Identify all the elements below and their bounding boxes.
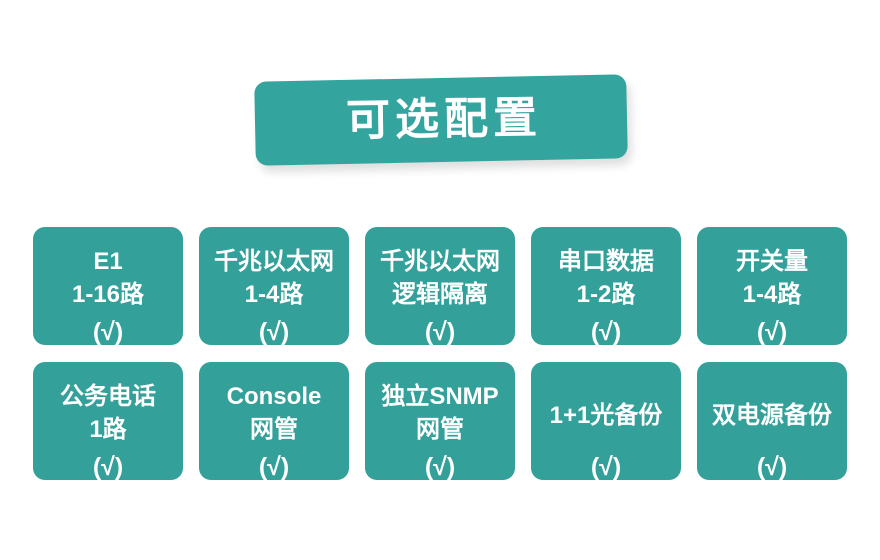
banner-title: 可选配置	[340, 97, 542, 144]
option-tile-label-group: 千兆以太网1-4路	[186, 245, 362, 311]
option-tile-grid: E11-16路(√)千兆以太网1-4路(√)千兆以太网逻辑隔离(√)串口数据1-…	[33, 227, 847, 480]
option-tile[interactable]: 千兆以太网逻辑隔离(√)	[365, 227, 515, 345]
option-tile-label: 1-4路	[684, 278, 860, 311]
option-tile-label: E1	[20, 245, 196, 278]
option-tile[interactable]: 公务电话1路(√)	[33, 362, 183, 480]
option-tile[interactable]: E11-16路(√)	[33, 227, 183, 345]
option-tile-label: 逻辑隔离	[352, 278, 528, 311]
option-tile-label: 双电源备份	[684, 399, 860, 432]
option-tile-label-group: 串口数据1-2路	[518, 245, 694, 311]
option-tile-check-mark: (√)	[697, 452, 847, 482]
option-tile[interactable]: 独立SNMP网管(√)	[365, 362, 515, 480]
option-tile-label-group: 1+1光备份	[518, 399, 694, 432]
option-tile-check-mark: (√)	[531, 317, 681, 347]
option-tile-check-mark: (√)	[697, 317, 847, 347]
option-tile-check-mark: (√)	[531, 452, 681, 482]
option-tile-label-group: 开关量1-4路	[684, 245, 860, 311]
option-tile-check-mark: (√)	[199, 317, 349, 347]
option-tile-label: 网管	[352, 413, 528, 446]
option-tile-label: Console	[186, 380, 362, 413]
option-tile-check-mark: (√)	[365, 452, 515, 482]
option-tile[interactable]: 串口数据1-2路(√)	[531, 227, 681, 345]
option-tile[interactable]: 千兆以太网1-4路(√)	[199, 227, 349, 345]
option-tile-label: 1-2路	[518, 278, 694, 311]
option-tile-label-group: 双电源备份	[684, 399, 860, 432]
banner-shape: 可选配置	[254, 74, 628, 165]
option-tile[interactable]: 1+1光备份(√)	[531, 362, 681, 480]
option-tile-label: 1-4路	[186, 278, 362, 311]
option-tile-label-group: Console网管	[186, 380, 362, 446]
option-tile-label: 1+1光备份	[518, 399, 694, 432]
option-tile-label: 1-16路	[20, 278, 196, 311]
option-tile[interactable]: 开关量1-4路(√)	[697, 227, 847, 345]
option-tile-label: 千兆以太网	[352, 245, 528, 278]
option-tile[interactable]: Console网管(√)	[199, 362, 349, 480]
optional-config-banner: 可选配置	[255, 78, 627, 162]
option-tile-check-mark: (√)	[365, 317, 515, 347]
option-tile-check-mark: (√)	[33, 452, 183, 482]
option-tile-label: 独立SNMP	[352, 380, 528, 413]
option-tile-label-group: 独立SNMP网管	[352, 380, 528, 446]
option-tile-label-group: 公务电话1路	[20, 380, 196, 446]
option-tile-label: 1路	[20, 413, 196, 446]
option-tile-label-group: 千兆以太网逻辑隔离	[352, 245, 528, 311]
option-tile[interactable]: 双电源备份(√)	[697, 362, 847, 480]
option-tile-label: 网管	[186, 413, 362, 446]
option-tile-check-mark: (√)	[33, 317, 183, 347]
option-tile-check-mark: (√)	[199, 452, 349, 482]
option-tile-label-group: E11-16路	[20, 245, 196, 311]
option-tile-label: 公务电话	[20, 380, 196, 413]
option-tile-label: 开关量	[684, 245, 860, 278]
option-tile-label: 串口数据	[518, 245, 694, 278]
option-tile-label: 千兆以太网	[186, 245, 362, 278]
